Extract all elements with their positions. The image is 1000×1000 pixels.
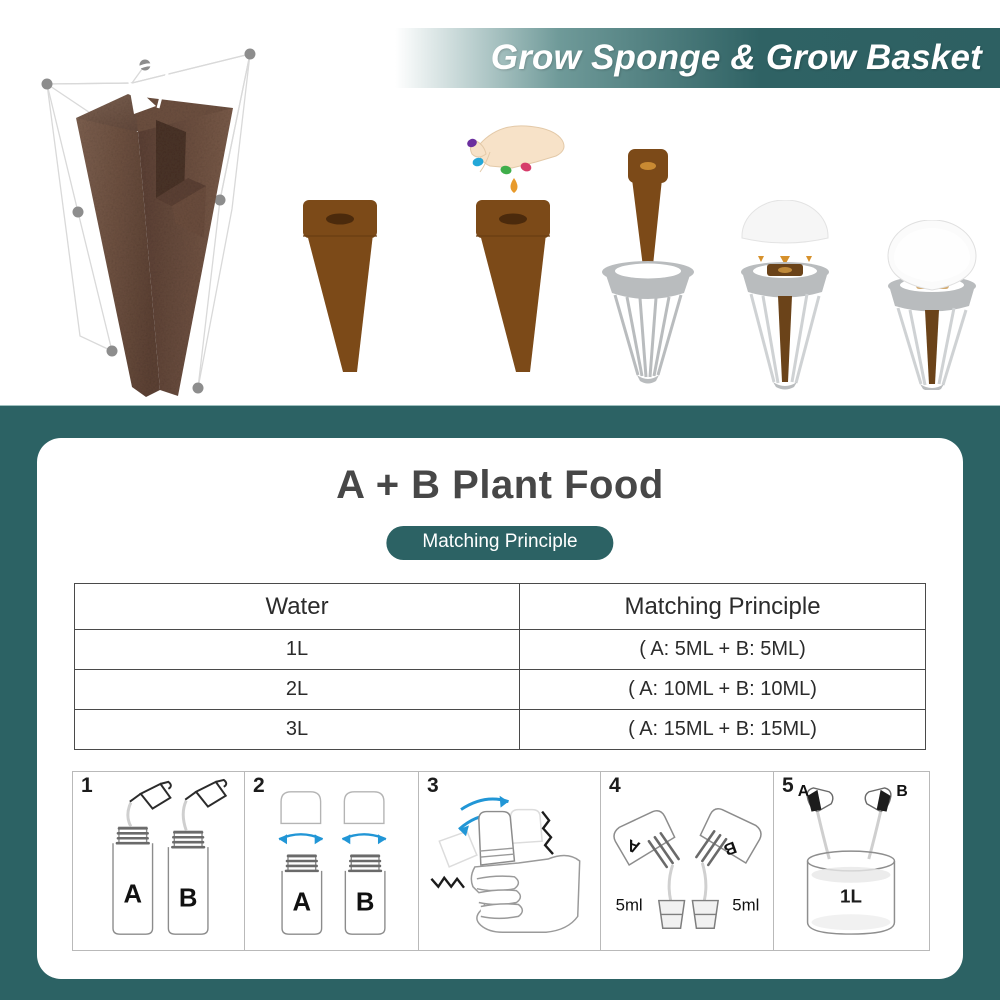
step-number: 1	[81, 774, 93, 798]
banner-title: Grow Sponge & Grow Basket	[491, 38, 982, 78]
measure-label-right: 5ml	[732, 895, 759, 914]
bottle-label-a: A	[124, 881, 143, 909]
step-2: 2	[244, 771, 418, 951]
title-banner: Grow Sponge & Grow Basket	[370, 28, 1000, 88]
cell-principle: ( A: 5ML + B: 5ML)	[520, 630, 926, 670]
step-4: 4 A B	[600, 771, 773, 951]
step-number: 5	[782, 774, 794, 798]
plant-food-section: A + B Plant Food Matching Principle Wate…	[0, 405, 1000, 1000]
table-row: 1L ( A: 5ML + B: 5ML)	[75, 630, 926, 670]
bottle-label-b: B	[179, 884, 198, 912]
cell-principle: ( A: 15ML + B: 15ML)	[520, 710, 926, 750]
plant-food-card: A + B Plant Food Matching Principle Wate…	[37, 438, 963, 979]
measure-label-left: 5ml	[616, 895, 643, 914]
table-header-row: Water Matching Principle	[75, 584, 926, 630]
step-1: 1	[72, 771, 244, 951]
table-row: 2L ( A: 10ML + B: 10ML)	[75, 670, 926, 710]
bottle-label-b: B	[896, 783, 907, 800]
sponge-wedge-wireframe: 1	[10, 10, 300, 400]
cell-water: 3L	[75, 710, 520, 750]
hand-icon	[466, 126, 564, 175]
cell-principle: ( A: 10ML + B: 10ML)	[520, 670, 926, 710]
bottle-label-a: A	[798, 783, 809, 800]
beaker-label: 1L	[840, 885, 862, 906]
sponge-plain	[285, 190, 395, 380]
step-number: 3	[427, 774, 439, 798]
table-row: 3L ( A: 15ML + B: 15ML)	[75, 710, 926, 750]
dosage-table: Water Matching Principle 1L ( A: 5ML + B…	[74, 583, 926, 750]
bottle-label-a: A	[293, 888, 312, 916]
step-number: 4	[609, 774, 621, 798]
bottle-label-b: B	[356, 888, 375, 916]
table-header-principle: Matching Principle	[520, 584, 926, 630]
dome-seated	[878, 220, 986, 390]
step-number: 2	[253, 774, 265, 798]
table-header-water: Water	[75, 584, 520, 630]
cell-water: 2L	[75, 670, 520, 710]
step-3: 3	[418, 771, 600, 951]
sponge-into-basket	[588, 135, 708, 385]
sponge-watering-hand	[450, 110, 580, 380]
matching-principle-badge: Matching Principle	[386, 526, 613, 560]
step-5: 5 A B	[773, 771, 930, 951]
dome-lowering	[730, 200, 840, 390]
cell-water: 1L	[75, 630, 520, 670]
product-illustration-section: 1	[0, 0, 1000, 405]
page-title: A + B Plant Food	[37, 463, 963, 508]
instruction-steps: 1	[72, 771, 930, 951]
